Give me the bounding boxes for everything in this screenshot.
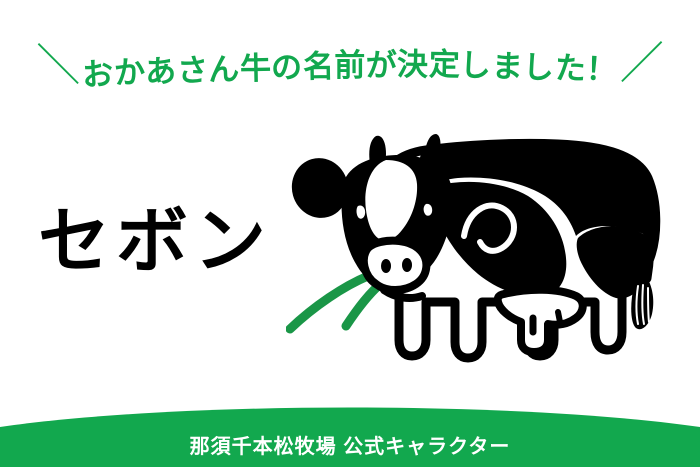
headline: ＼ お か あ さ ん 牛 の 名 前 が 決 定 し ま し た ！ ／ [0,36,700,100]
headline-char: あ [144,45,177,91]
headline-char: ん [207,43,240,89]
banner-label: 那須千本松牧場 公式キャラクター [0,422,700,467]
character-name-text: セボン [38,206,272,278]
headline-char: た [554,42,588,89]
grass-blades-icon [290,276,383,329]
footer-banner: 那須千本松牧場 公式キャラクター [0,405,700,467]
right-slash-icon: ／ [620,42,664,86]
character-name: セボン [38,196,308,288]
headline-char: お [81,48,115,95]
headline-char: ま [491,40,524,86]
cow-illustration-svg [286,126,690,376]
headline-char: の [271,41,303,87]
headline-char: 決 [397,38,429,84]
left-slash-icon: ＼ [36,44,80,88]
headline-text: お か あ さ ん 牛 の 名 前 が 決 定 し ま し た ！ [82,46,618,91]
character-announcement-card: ＼ お か あ さ ん 牛 の 名 前 が 決 定 し ま し た ！ ／ セボ… [0,0,700,467]
headline-char: が [366,40,398,85]
headline-char: さ [176,44,209,90]
headline-char: 前 [334,40,366,85]
cow-illustration [286,126,690,376]
cow-muzzle [364,241,427,290]
headline-char: か [113,46,147,93]
headline-char: 定 [428,38,460,84]
headline-char: 牛 [239,42,271,88]
headline-char: 名 [302,40,334,86]
headline-char: し [459,39,492,85]
headline-char: し [522,41,555,87]
headline-char: ！ [585,43,619,90]
cow-udder [498,290,583,352]
